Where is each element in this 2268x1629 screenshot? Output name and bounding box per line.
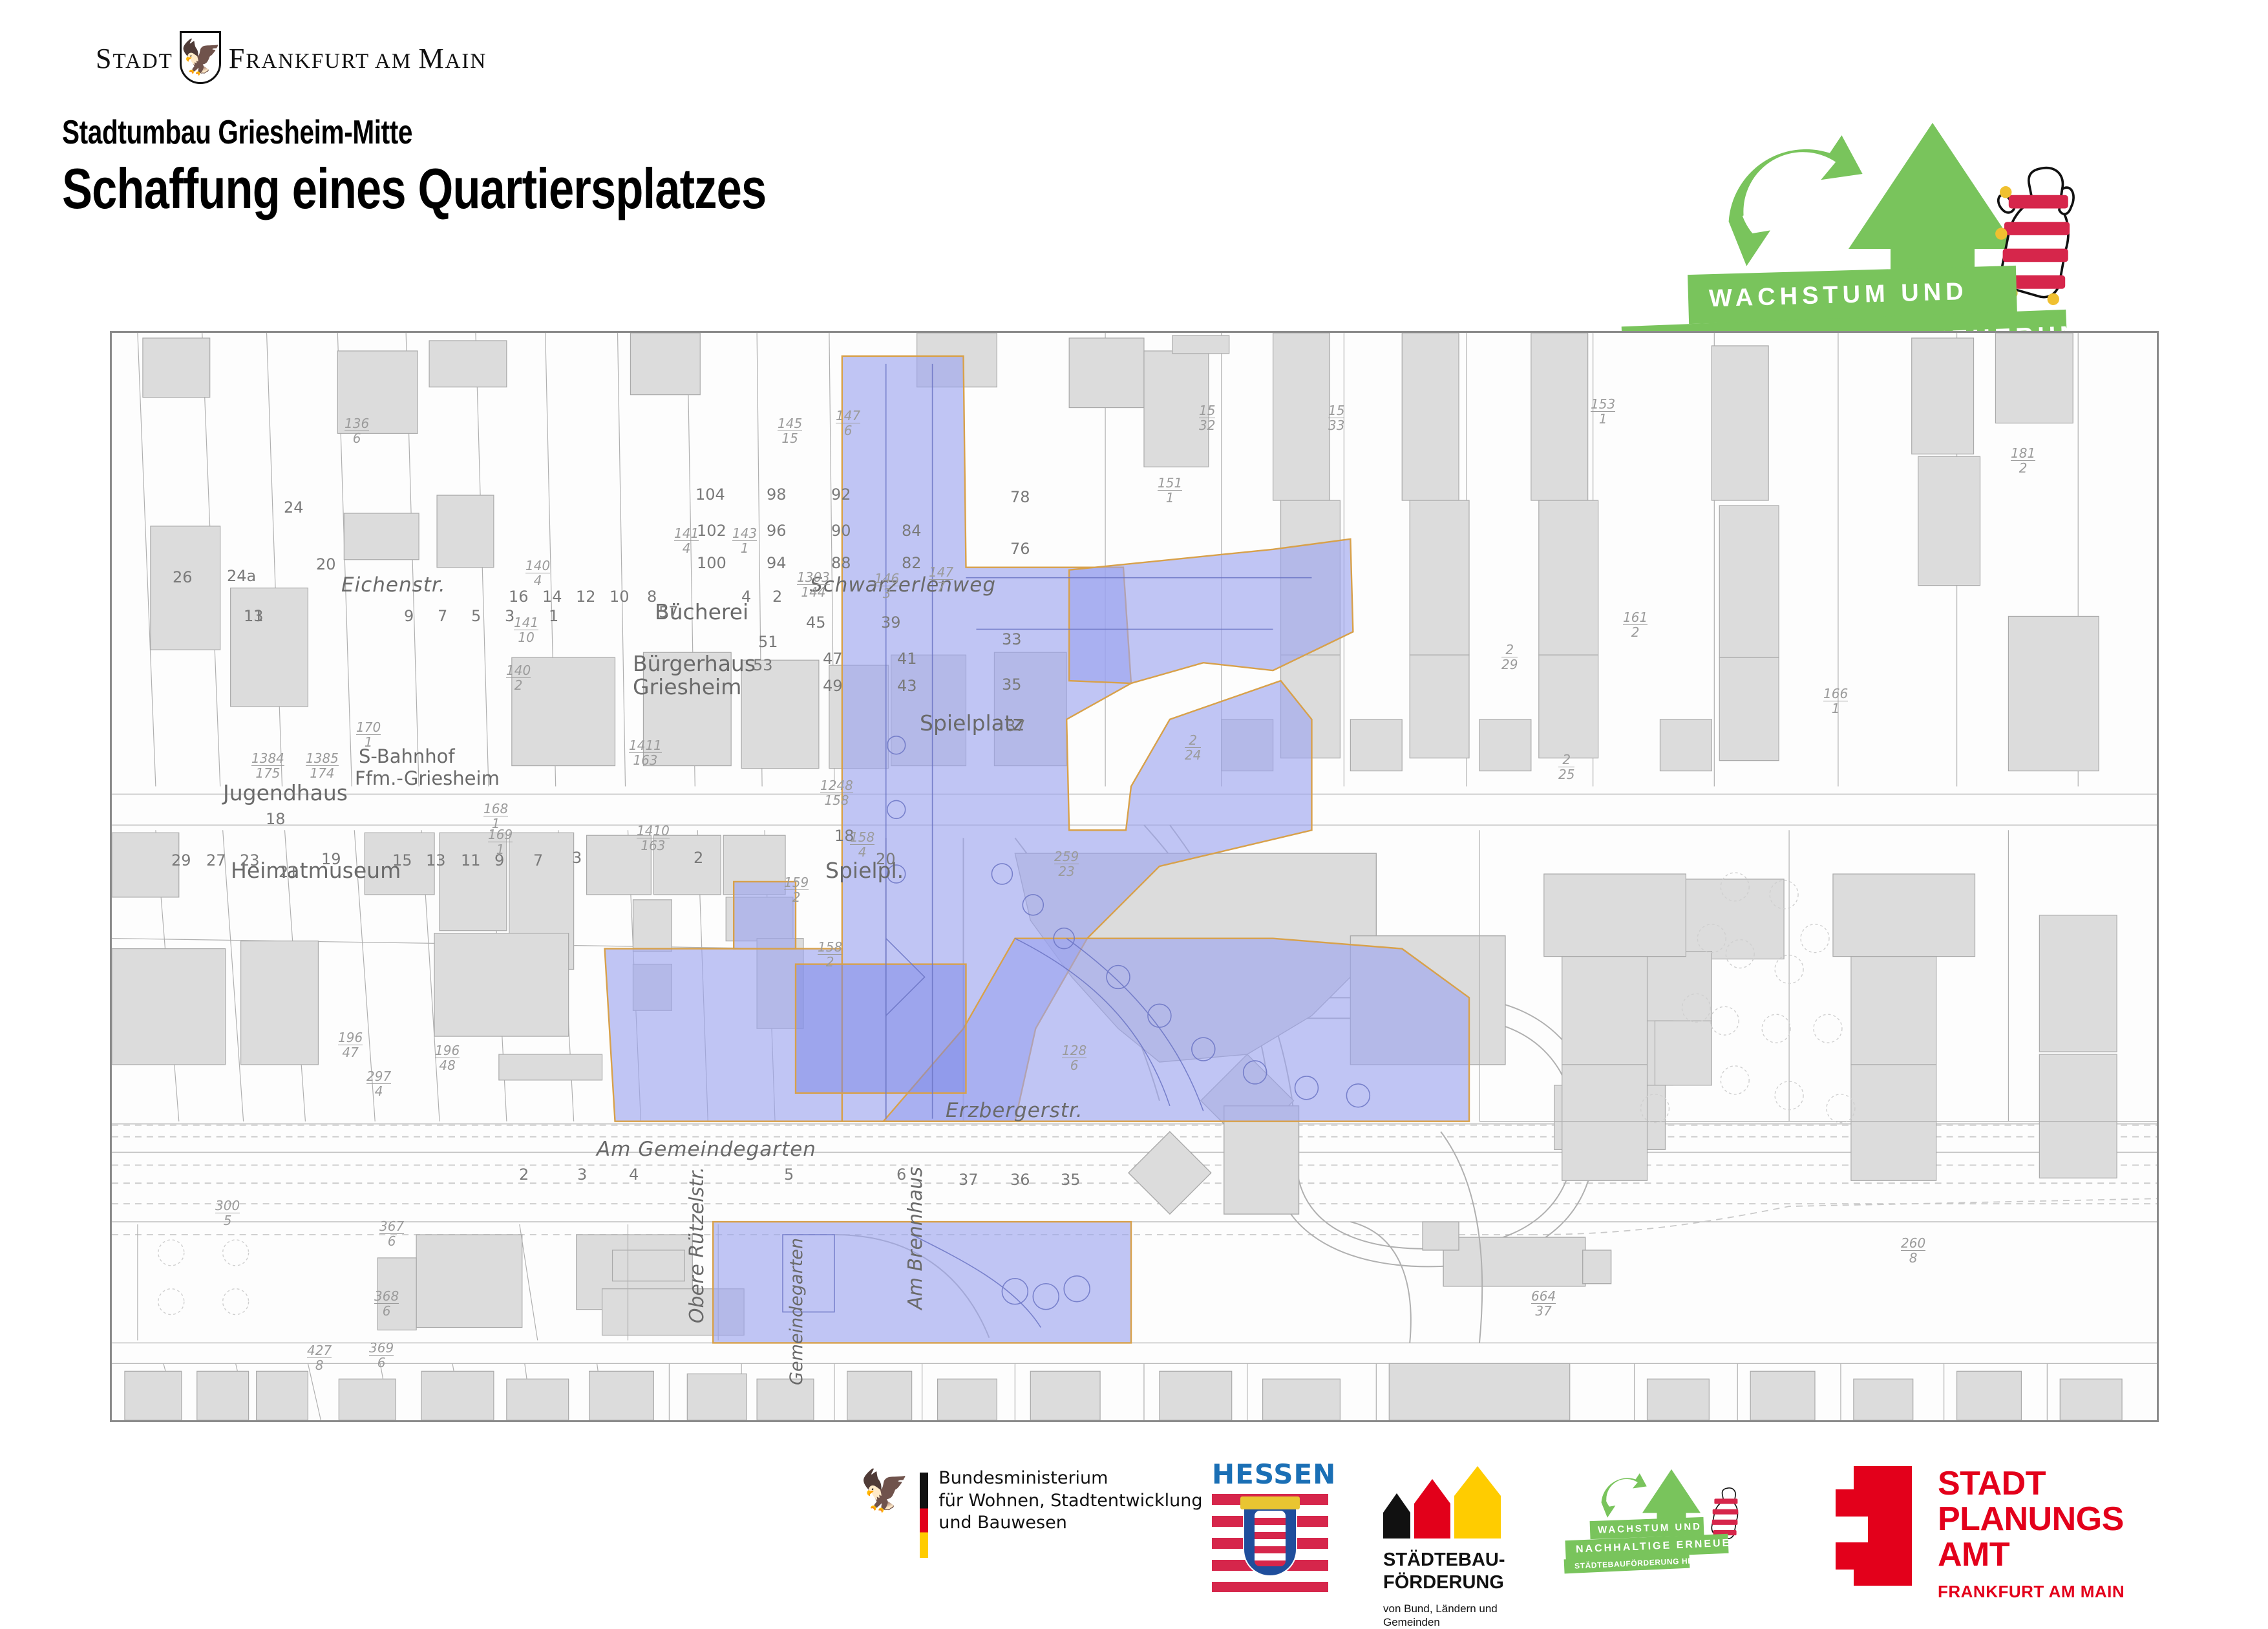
house-number: 4	[741, 588, 751, 606]
house-number: 21	[279, 863, 299, 881]
street-label-obere-ruetzelstr: Obere Rützelstr.	[686, 1167, 708, 1323]
house-number: 11	[461, 851, 481, 869]
house-number: 36	[1010, 1171, 1030, 1189]
stbf-line2: FÖRDERUNG	[1383, 1571, 1551, 1594]
parcel-number: 1411163	[629, 739, 662, 767]
parcel-number: 1303144	[797, 571, 830, 599]
house-number: 57	[659, 603, 679, 621]
house-number: 43	[897, 677, 917, 695]
house-number: 35	[1002, 676, 1022, 694]
city-label-frankfurt: FRANKFURT AM MAIN	[229, 42, 487, 75]
house-number: 39	[881, 613, 901, 632]
house-number: 100	[697, 554, 726, 572]
house-number: 3	[572, 849, 582, 867]
house-number: 20	[876, 850, 896, 868]
parcel-number: 1681	[483, 802, 508, 830]
title-block: Stadtumbau Griesheim-Mitte Schaffung ein…	[62, 115, 942, 217]
house-number: 94	[767, 554, 787, 572]
sp-line2: PLANUNGS	[1938, 1502, 2125, 1537]
house-number: 6	[896, 1166, 906, 1184]
house-number: 45	[806, 613, 826, 632]
parcel-number: 1414	[674, 527, 699, 555]
parcel-number: 1404	[525, 559, 550, 587]
staedtebaufoerderung-logo: STÄDTEBAU- FÖRDERUNG von Bund, Ländern u…	[1383, 1466, 1551, 1629]
street-label-am-gemeindegarten: Am Gemeindegarten	[597, 1138, 816, 1161]
page-title: Schaffung eines Quartiersplatzes	[62, 160, 766, 218]
house-number: 29	[171, 851, 191, 869]
house-number: 2	[772, 588, 782, 606]
map-drawing	[112, 333, 2157, 1420]
parcel-number: 3676	[379, 1220, 404, 1248]
parcel-number: 1691	[488, 828, 513, 856]
parcel-number: 1366	[344, 417, 369, 445]
parcel-number: 19647	[338, 1031, 363, 1059]
city-label-stadt: STADT	[96, 42, 173, 75]
house-number: 9	[404, 607, 414, 625]
house-number: 13	[426, 851, 446, 869]
hessen-crown	[1240, 1496, 1300, 1509]
house-number: 26	[173, 568, 193, 586]
parcel-number: 14110	[514, 616, 538, 644]
parcel-number: 2608	[1901, 1237, 1925, 1264]
house-number: 23	[240, 851, 260, 869]
stbf-line1: STÄDTEBAU-	[1383, 1549, 1551, 1571]
house-number: 14	[542, 588, 562, 606]
parcel-number: 1431	[732, 527, 757, 555]
street-label-schwarzerlenweg: Schwarzerlenweg	[810, 573, 996, 597]
house-number: 92	[831, 485, 851, 504]
three-houses-icon	[1383, 1466, 1551, 1538]
bmwsb-text: Bundesministerium für Wohnen, Stadtentwi…	[938, 1467, 1202, 1535]
house-number: 33	[1002, 630, 1022, 648]
house-number: 24	[284, 498, 304, 516]
sp-city: FRANKFURT AM MAIN	[1938, 1582, 2125, 1602]
poi-label-buergerhaus: Bürgerhaus	[633, 651, 756, 676]
poi-label-jugendhaus: Jugendhaus	[223, 780, 348, 805]
house-number: 5	[471, 607, 481, 625]
house-number: 24a	[227, 567, 256, 585]
house-number: 3	[505, 607, 514, 625]
bmwsb-line2: für Wohnen, Stadtentwicklung	[938, 1490, 1202, 1513]
parcel-number: 1592	[784, 876, 809, 904]
house-number: 98	[767, 485, 787, 504]
house-number: 2	[519, 1166, 529, 1184]
page-header: STADT 🦅 FRANKFURT AM MAIN Stadtumbau Gri…	[0, 0, 2268, 304]
parcel-number: 1410163	[637, 824, 670, 852]
parcel-number: 3686	[374, 1290, 399, 1317]
eagle-glyph: 🦅	[180, 41, 222, 74]
parcel-number: 1385174	[306, 752, 339, 780]
hessen-coat-of-arms-icon	[1212, 1494, 1328, 1592]
house-number: 1	[549, 607, 558, 625]
parcel-number: 2974	[366, 1070, 391, 1098]
house-number: 19	[321, 850, 341, 868]
parcel-number: 1248158	[820, 779, 853, 807]
parcel-number: 1531	[1591, 398, 1615, 425]
house-number: 41	[897, 650, 917, 668]
parcel-number: 1661	[1823, 687, 1848, 715]
cadastral-map[interactable]: Eichenstr. Schwarzerlenweg Erzbergerstr.…	[110, 331, 2159, 1422]
parcel-number: 3005	[215, 1199, 240, 1227]
hessen-shield-lion	[1255, 1511, 1286, 1566]
house-number: 53	[753, 656, 773, 674]
stbf-sub1: von Bund, Ländern und	[1383, 1602, 1551, 1615]
parcel-number: 1286	[1062, 1044, 1086, 1072]
sp-line3: AMT	[1938, 1537, 2125, 1573]
parcel-number: 1584	[850, 831, 874, 858]
house-number: 49	[823, 677, 843, 695]
stadtplanungsamt-text: STADT PLANUNGS AMT FRANKFURT AM MAIN	[1938, 1466, 2125, 1602]
house-number: 84	[902, 522, 922, 540]
house-number: 51	[758, 633, 778, 651]
parcel-number: 229	[1501, 643, 1518, 671]
house-number: 35	[1061, 1171, 1081, 1189]
house-number: 16	[509, 588, 529, 606]
stadtplanungsamt-mark-icon	[1836, 1466, 1912, 1586]
poi-label-ffm-griesheim: Ffm.-Griesheim	[355, 767, 500, 789]
house-number: 18	[266, 810, 286, 828]
parcel-number: 1477	[929, 566, 953, 593]
house-number: 10	[609, 588, 630, 606]
parcel-number: 1533	[1328, 404, 1344, 432]
street-label-gemeindegarten-vertical: Gemeindegarten	[787, 1238, 807, 1385]
stadtplanungsamt-logo: STADT PLANUNGS AMT FRANKFURT AM MAIN	[1836, 1466, 2125, 1602]
house-number: 104	[695, 485, 725, 504]
house-number: 7	[533, 851, 543, 869]
hessen-state-logo: HESSEN	[1212, 1458, 1328, 1592]
bundesministerium-logo: 🦅 Bundesministerium für Wohnen, Stadtent…	[860, 1467, 1203, 1558]
parcel-number: 14515	[778, 417, 802, 445]
project-subtitle: Stadtumbau Griesheim-Mitte	[62, 115, 748, 151]
parcel-number: 3696	[369, 1341, 394, 1369]
parcel-number: 1612	[1623, 611, 1648, 639]
poi-label-griesheim: Griesheim	[633, 674, 741, 699]
house-number: 7	[438, 607, 447, 625]
parcel-number: 4278	[307, 1344, 332, 1372]
house-number: 76	[1010, 540, 1030, 558]
sp-line1: STADT	[1938, 1466, 2125, 1502]
frankfurt-eagle-crest-icon: 🦅	[180, 31, 222, 85]
parcel-number: 1384175	[251, 752, 284, 780]
house-number: 37	[1006, 717, 1026, 735]
parcel-number: 1402	[506, 664, 531, 692]
parcel-number: 1511	[1158, 476, 1182, 504]
house-number: 15	[392, 851, 412, 869]
parcel-number: 66437	[1531, 1290, 1556, 1317]
bmwsb-line3: und Bauwesen	[938, 1512, 1202, 1535]
page-footer: 🦅 Bundesministerium für Wohnen, Stadtent…	[0, 1454, 2268, 1603]
parcel-number: 225	[1558, 753, 1574, 781]
house-number: 20	[316, 555, 336, 573]
house-number: 37	[959, 1171, 979, 1189]
program-logo-small: WACHSTUM UND NACHHALTIGE ERNEUERUNG STÄD…	[1590, 1469, 1803, 1592]
house-number: 78	[1010, 488, 1030, 506]
house-number: 12	[576, 588, 596, 606]
german-flag-bar-icon	[920, 1473, 928, 1558]
street-label-eichenstr: Eichenstr.	[341, 573, 446, 597]
poi-label-s-bahnhof: S-Bahnhof	[359, 745, 455, 767]
federal-eagle-icon: 🦅	[860, 1471, 909, 1511]
hessen-label: HESSEN	[1212, 1458, 1328, 1490]
house-number: 96	[767, 522, 787, 540]
house-number: 2	[694, 849, 703, 867]
house-number: 4	[629, 1166, 639, 1184]
parcel-number: 1812	[2011, 447, 2035, 474]
city-of-frankfurt-logo: STADT 🦅 FRANKFURT AM MAIN	[96, 31, 487, 85]
house-number: 5	[784, 1166, 794, 1184]
house-number: 27	[206, 851, 226, 869]
house-number: 102	[697, 522, 726, 540]
parcel-number: 1532	[1199, 404, 1215, 432]
parcel-number: 1701	[356, 721, 381, 749]
house-number: 90	[831, 522, 851, 540]
parcel-number: 224	[1185, 734, 1201, 761]
parcel-number: 1582	[818, 941, 842, 968]
parcel-number: 19648	[435, 1044, 460, 1072]
house-number: 82	[902, 554, 922, 572]
parcel-number: 25923	[1054, 850, 1079, 878]
house-number: 47	[823, 650, 843, 668]
house-number: 8	[647, 588, 657, 606]
house-number: 3	[577, 1166, 587, 1184]
parcel-number: 1476	[836, 409, 860, 437]
parcel-number: 1463	[874, 572, 899, 600]
stbf-sub2: Gemeinden	[1383, 1615, 1551, 1629]
street-label-am-brennhaus: Am Brennhaus	[904, 1167, 927, 1310]
house-number: 88	[831, 554, 851, 572]
bmwsb-line1: Bundesministerium	[938, 1467, 1202, 1490]
street-label-erzbergerstr: Erzbergerstr.	[946, 1099, 1083, 1122]
house-number: 13	[244, 607, 264, 625]
